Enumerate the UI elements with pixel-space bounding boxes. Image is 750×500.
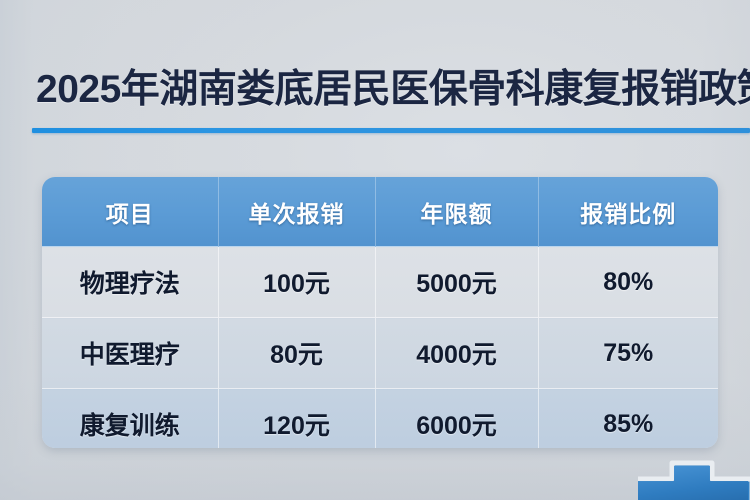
column-header-annual-cap: 年限额 (375, 177, 538, 247)
cell-rate: 75% (538, 318, 718, 389)
column-header-rate: 报销比例 (538, 177, 718, 247)
cell-item: 物理疗法 (42, 247, 218, 318)
medical-cross-icon (638, 459, 750, 500)
cell-annual-cap: 6000元 (375, 389, 538, 449)
cell-per-visit: 100元 (218, 247, 375, 318)
poster-canvas: 2025年湖南娄底居民医保骨科康复报销政策 项目 单次报销 年限额 报销比例 物… (0, 0, 750, 500)
policy-table: 项目 单次报销 年限额 报销比例 物理疗法 100元 5000元 80% 中医理… (42, 177, 718, 448)
cell-annual-cap: 4000元 (375, 318, 538, 389)
page-title: 2025年湖南娄底居民医保骨科康复报销政策 (36, 64, 750, 116)
cell-item: 中医理疗 (42, 318, 218, 389)
cell-annual-cap: 5000元 (375, 247, 538, 318)
title-underline-divider (32, 128, 750, 133)
cell-per-visit: 80元 (218, 318, 375, 389)
cell-per-visit: 120元 (218, 389, 375, 449)
table-row: 中医理疗 80元 4000元 75% (42, 318, 718, 389)
cell-item: 康复训练 (42, 389, 218, 449)
column-header-item: 项目 (42, 177, 218, 247)
cell-rate: 85% (538, 389, 718, 449)
column-header-per-visit: 单次报销 (218, 177, 375, 247)
cell-rate: 80% (538, 247, 718, 318)
table-header-row: 项目 单次报销 年限额 报销比例 (42, 177, 718, 247)
table-row: 物理疗法 100元 5000元 80% (42, 247, 718, 318)
table-row: 康复训练 120元 6000元 85% (42, 389, 718, 449)
